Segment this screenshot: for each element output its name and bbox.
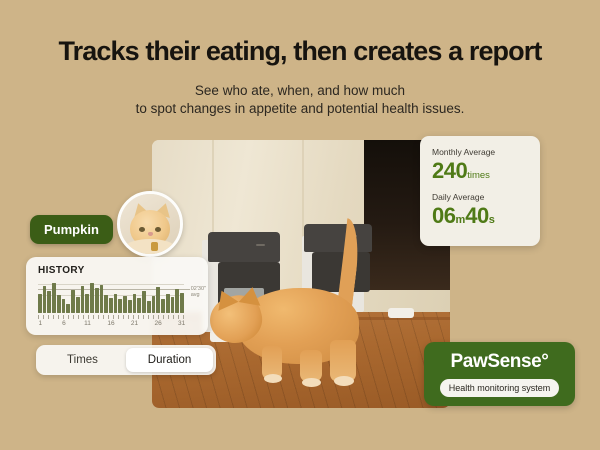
chart-bar — [147, 301, 151, 313]
history-title: HISTORY — [38, 265, 198, 276]
chart-bar — [85, 294, 89, 313]
chart-bar — [161, 299, 165, 313]
monthly-average-value: 240times — [432, 160, 528, 182]
chart-bar — [156, 287, 160, 313]
feeder-hopper — [208, 232, 280, 262]
chart-axis — [38, 315, 184, 319]
chart-bar — [114, 294, 118, 313]
chart-bar — [57, 295, 61, 313]
chart-bar — [166, 294, 170, 313]
metric-toggle[interactable]: Times Duration — [36, 345, 216, 375]
monthly-average-label: Monthly Average — [432, 147, 528, 157]
daily-average-seconds-unit: s — [489, 214, 495, 226]
daily-average-minutes: 06 — [432, 203, 455, 228]
brand-block: PawSense° Health monitoring system — [424, 342, 575, 406]
chart-bar — [109, 298, 113, 314]
chart-bar — [47, 291, 51, 313]
chart-average-label: 02'30" avg — [191, 286, 206, 298]
chart-bar — [81, 286, 85, 313]
chart-bar — [118, 299, 122, 313]
chart-tick: 16 — [107, 320, 114, 327]
history-chart: 02'30" avg — [38, 282, 198, 318]
avatar-cat-chest — [126, 239, 174, 254]
avatar-cat-eye — [155, 227, 161, 232]
chart-bar — [123, 296, 127, 313]
cat-paw — [302, 378, 321, 387]
chart-bar — [62, 299, 66, 313]
daily-average-label: Daily Average — [432, 192, 528, 202]
daily-average-seconds: 40 — [465, 203, 488, 228]
avatar[interactable] — [117, 191, 183, 257]
toggle-option-duration[interactable]: Duration — [126, 348, 213, 372]
daily-average-minutes-unit: m — [455, 214, 465, 226]
monthly-average-unit: times — [467, 170, 490, 181]
chart-bar — [171, 297, 175, 313]
chart-tick: 11 — [84, 320, 91, 327]
chart-tick: 1 — [39, 320, 43, 327]
chart-bar — [43, 286, 47, 313]
chart-tick: 21 — [131, 320, 138, 327]
avatar-cat-nose — [148, 232, 153, 236]
cat-ear — [239, 285, 264, 306]
history-card: HISTORY 02'30" avg 161116212631 — [26, 257, 208, 335]
chart-bar — [133, 294, 137, 313]
chart-bar — [128, 300, 132, 313]
feeder-mat — [388, 308, 414, 318]
avatar-collar-tag — [151, 242, 158, 251]
page-title: Tracks their eating, then creates a repo… — [0, 36, 600, 67]
chart-bars — [38, 282, 184, 313]
chart-bar — [52, 283, 56, 313]
feeder-led — [256, 244, 265, 246]
stats-card: Monthly Average 240times Daily Average 0… — [420, 136, 540, 246]
chart-bar — [175, 289, 179, 313]
monthly-average-number: 240 — [432, 158, 467, 183]
chart-tick: 26 — [154, 320, 161, 327]
chart-bar — [66, 304, 70, 313]
chart-tick: 31 — [178, 320, 185, 327]
pet-name-badge[interactable]: Pumpkin — [30, 215, 113, 244]
promo-stage: Tracks their eating, then creates a repo… — [0, 0, 600, 450]
chart-tick-labels: 161116212631 — [38, 320, 190, 330]
chart-bar — [38, 294, 42, 313]
chart-bar — [137, 298, 141, 313]
brand-tagline: Health monitoring system — [440, 379, 560, 397]
chart-bar — [152, 296, 156, 313]
chart-average-caption: avg — [191, 292, 206, 298]
cat-paw — [264, 374, 282, 383]
chart-bar — [180, 293, 184, 313]
avatar-cat-eye — [139, 227, 145, 232]
chart-tick: 6 — [62, 320, 66, 327]
chart-bar — [142, 291, 146, 313]
chart-bar — [95, 288, 99, 313]
cat-paw — [334, 376, 354, 386]
chart-bar — [71, 290, 75, 313]
toggle-option-times[interactable]: Times — [39, 348, 126, 372]
daily-average-value: 06m40s — [432, 205, 528, 227]
subtitle-line-2: to spot changes in appetite and potentia… — [0, 100, 600, 118]
chart-bar — [90, 283, 94, 313]
chart-bar — [100, 285, 104, 313]
brand-name: PawSense° — [451, 351, 549, 373]
page-subtitle: See who ate, when, and how much to spot … — [0, 82, 600, 118]
stats-spacer — [432, 182, 528, 192]
chart-bar — [76, 297, 80, 313]
chart-bar — [104, 295, 108, 313]
subtitle-line-1: See who ate, when, and how much — [0, 82, 600, 100]
